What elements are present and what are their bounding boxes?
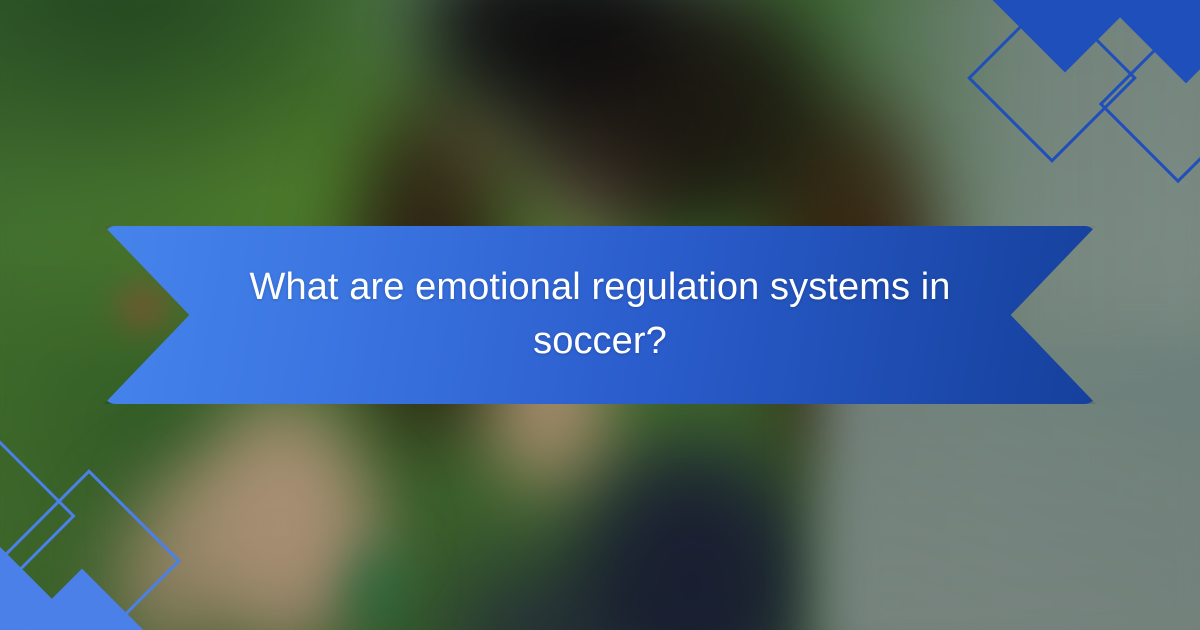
social-share-card: What are emotional regulation systems in… [0,0,1200,630]
headline-ribbon-banner: What are emotional regulation systems in… [104,226,1096,404]
page-title: What are emotional regulation systems in… [222,261,978,369]
